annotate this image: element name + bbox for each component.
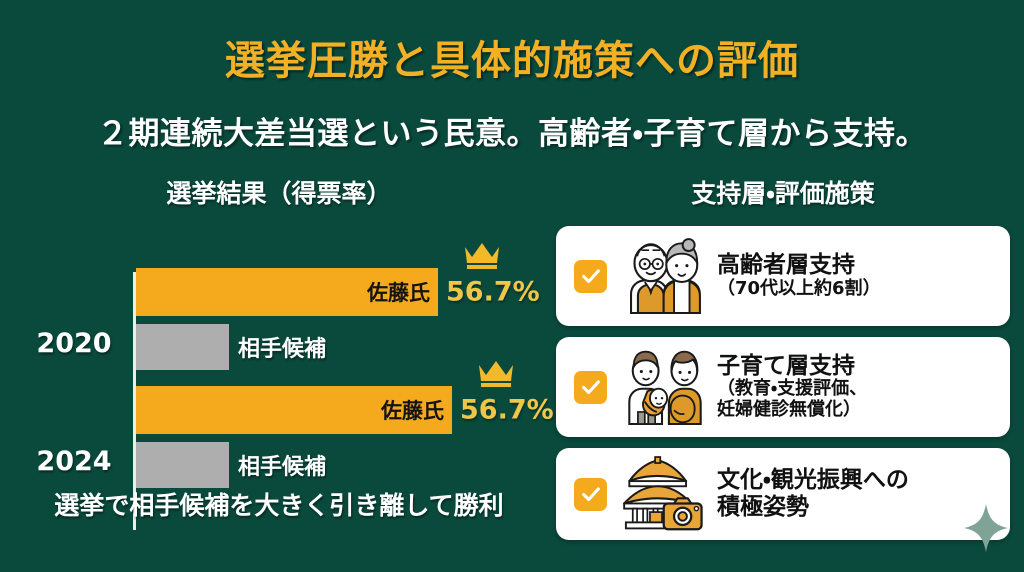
- card-sub-elderly: （70代以上約6割）: [717, 279, 996, 300]
- card-title-childcare: 子育て層支持: [717, 353, 996, 380]
- card-title-elderly: 高齢者層支持: [717, 252, 996, 279]
- card-sub-line: （70代以上約6割）: [717, 279, 996, 300]
- chart-caption: 選挙で相手候補を大きく引き離して勝利: [14, 486, 544, 522]
- bar-2020-opponent[interactable]: 相手候補: [136, 324, 229, 370]
- chart-category-label-2020: 2020: [22, 328, 126, 359]
- card-text-elderly: 高齢者層支持 （70代以上約6割）: [717, 252, 996, 300]
- crown-icon: [462, 239, 502, 275]
- page-title: 選挙圧勝と具体的施策への評価: [0, 28, 1024, 86]
- chart-heading: 選挙結果（得票率）: [14, 174, 544, 210]
- election-chart-panel: 選挙結果（得票率） 2020 佐藤氏 56.7% 相手候補: [14, 174, 544, 546]
- bar-fill-2020-winner: 佐藤氏: [136, 268, 438, 316]
- bar-label-2020-winner: 佐藤氏: [367, 277, 438, 307]
- crown-icon: [476, 357, 516, 393]
- page-subtitle: ２期連続大差当選という民意。高齢者・子育て層から支持。: [0, 108, 1024, 153]
- sparkle-icon: [964, 504, 1008, 552]
- bar-fill-2020-opponent: [136, 324, 229, 370]
- bar-2020-winner[interactable]: 佐藤氏 56.7%: [136, 268, 438, 316]
- support-card-culture-tourism[interactable]: 文化・観光振興への 積極姿勢: [556, 448, 1010, 540]
- bar-value-2020-winner: 56.7%: [446, 277, 540, 308]
- cards-list: 高齢者層支持 （70代以上約6割）: [556, 226, 1010, 540]
- card-text-childcare: 子育て層支持 （教育・支援評価、 妊婦健診無償化）: [717, 353, 996, 421]
- cards-heading: 支持層・評価施策: [556, 174, 1010, 210]
- card-sub-line: （教育・支援評価、: [717, 379, 996, 400]
- card-sub-childcare: （教育・支援評価、 妊婦健診無償化）: [717, 379, 996, 421]
- checkbox-checked-icon[interactable]: [574, 371, 607, 404]
- elderly-couple-icon: [619, 237, 705, 315]
- slide-root: 選挙圧勝と具体的施策への評価 ２期連続大差当選という民意。高齢者・子育て層から支…: [0, 0, 1024, 572]
- chart-category-label-2024: 2024: [22, 446, 126, 477]
- bar-label-2024-opponent: 相手候補: [238, 449, 326, 481]
- checkbox-checked-icon[interactable]: [574, 260, 607, 293]
- bar-label-2024-winner: 佐藤氏: [381, 395, 452, 425]
- bar-value-2024-winner: 56.7%: [460, 395, 554, 426]
- bar-fill-2024-opponent: [136, 442, 229, 488]
- support-card-childcare[interactable]: 子育て層支持 （教育・支援評価、 妊婦健診無償化）: [556, 337, 1010, 437]
- card-title-culture-tourism: 文化・観光振興への: [717, 467, 996, 494]
- temple-camera-icon: [619, 455, 705, 533]
- support-cards-panel: 支持層・評価施策: [556, 174, 1010, 540]
- support-card-elderly[interactable]: 高齢者層支持 （70代以上約6割）: [556, 226, 1010, 326]
- card-text-culture-tourism: 文化・観光振興への 積極姿勢: [717, 467, 996, 520]
- bar-2024-winner[interactable]: 佐藤氏 56.7%: [136, 386, 452, 434]
- chart-plot-area: 2020 佐藤氏 56.7% 相手候補 2024: [14, 224, 544, 492]
- card-sub-line: 妊婦健診無償化）: [717, 400, 996, 421]
- card-title-culture-tourism-line2: 積極姿勢: [717, 494, 996, 521]
- family-with-baby-icon: [619, 348, 705, 426]
- bar-fill-2024-winner: 佐藤氏: [136, 386, 452, 434]
- checkbox-checked-icon[interactable]: [574, 478, 607, 511]
- bar-2024-opponent[interactable]: 相手候補: [136, 442, 229, 488]
- bar-label-2020-opponent: 相手候補: [238, 331, 326, 363]
